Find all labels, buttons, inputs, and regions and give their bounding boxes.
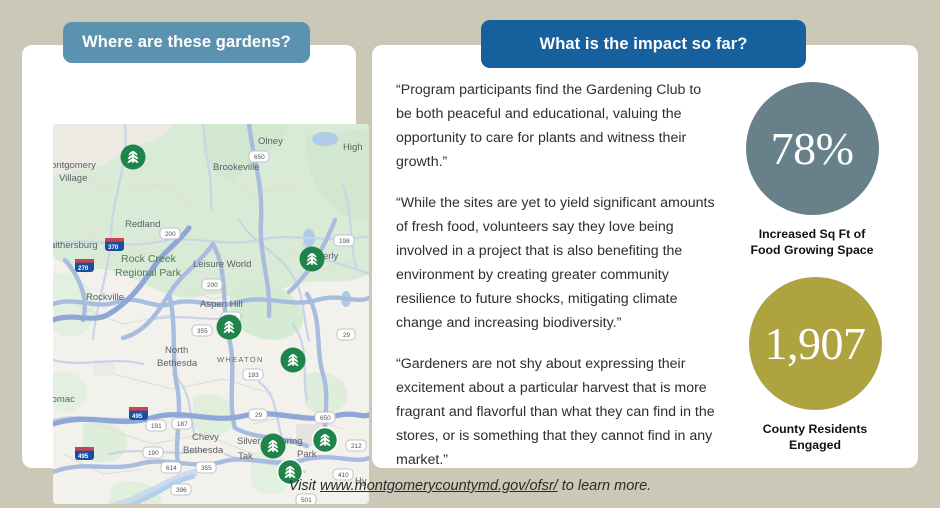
stat-label-line1: Increased Sq Ft of (722, 226, 902, 242)
stat-circle: 78% (746, 82, 879, 215)
svg-text:191: 191 (151, 423, 162, 430)
gardens-location-card: ontgomery Village aithersburg Redland Br… (22, 45, 356, 468)
stat-value: 78% (771, 126, 854, 172)
svg-text:erly: erly (323, 251, 339, 262)
infographic-canvas: ontgomery Village aithersburg Redland Br… (0, 0, 940, 508)
footer-suffix: to learn more. (558, 478, 652, 494)
gardens-map[interactable]: ontgomery Village aithersburg Redland Br… (53, 124, 369, 504)
svg-text:212: 212 (351, 443, 362, 450)
svg-text:Leisure World: Leisure World (193, 259, 251, 270)
stat-circle: 1,907 (749, 277, 882, 410)
svg-text:495: 495 (78, 453, 89, 460)
svg-text:200: 200 (207, 282, 218, 289)
map-marker (217, 315, 242, 340)
svg-text:tomac: tomac (53, 394, 75, 405)
svg-text:501: 501 (301, 497, 312, 504)
stat-label: Increased Sq Ft of Food Growing Space (722, 226, 902, 258)
stat-residents-engaged: 1,907 County Residents Engaged (725, 277, 905, 453)
footer-prefix: Visit (289, 478, 320, 494)
stat-label-line2: Engaged (725, 437, 905, 453)
svg-text:Rockville: Rockville (86, 292, 124, 303)
svg-text:Silver: Silver (237, 436, 261, 447)
map-marker (121, 145, 146, 170)
svg-text:193: 193 (248, 372, 259, 379)
stat-label: County Residents Engaged (725, 421, 905, 453)
quote-3: “Gardeners are not shy about expressing … (396, 352, 716, 472)
svg-text:Olney: Olney (258, 136, 283, 147)
svg-text:ontgomery: ontgomery (53, 160, 96, 171)
svg-text:Redland: Redland (125, 219, 160, 230)
svg-text:187: 187 (177, 421, 188, 428)
gardens-location-title: Where are these gardens? (63, 22, 310, 63)
svg-text:650: 650 (254, 154, 265, 161)
svg-text:198: 198 (339, 238, 350, 245)
impact-title: What is the impact so far? (481, 20, 806, 68)
map-marker (300, 247, 325, 272)
svg-text:370: 370 (108, 244, 119, 251)
svg-text:614: 614 (166, 465, 177, 472)
svg-text:355: 355 (201, 465, 212, 472)
map-marker-group (121, 145, 338, 485)
stat-value: 1,907 (765, 321, 866, 367)
svg-text:aithersburg: aithersburg (53, 240, 98, 251)
svg-text:495: 495 (132, 413, 143, 420)
stat-label-line2: Food Growing Space (722, 242, 902, 258)
svg-text:355: 355 (197, 328, 208, 335)
svg-text:29: 29 (343, 332, 351, 339)
svg-text:190: 190 (148, 450, 159, 457)
stat-increased-sqft: 78% Increased Sq Ft of Food Growing Spac… (722, 82, 902, 258)
quote-2: “While the sites are yet to yield signif… (396, 191, 716, 335)
svg-text:Brookeville: Brookeville (213, 162, 259, 173)
svg-text:High: High (343, 142, 363, 153)
map-marker (281, 348, 306, 373)
svg-text:650: 650 (320, 415, 331, 422)
svg-text:Regional Park: Regional Park (115, 267, 182, 279)
svg-text:29: 29 (255, 412, 263, 419)
svg-text:Bethesda: Bethesda (183, 445, 224, 456)
svg-text:Rock Creek: Rock Creek (121, 253, 177, 265)
svg-text:Park: Park (297, 449, 317, 460)
svg-text:Tak: Tak (238, 451, 253, 462)
stat-label-line1: County Residents (725, 421, 905, 437)
quote-1: “Program participants find the Gardening… (396, 78, 716, 174)
map-labels: ontgomery Village aithersburg Redland Br… (53, 124, 369, 504)
svg-text:Aspen Hill: Aspen Hill (200, 299, 243, 310)
svg-text:WHEATON: WHEATON (217, 355, 264, 364)
svg-text:North: North (165, 345, 188, 356)
map-marker (261, 434, 286, 459)
svg-text:200: 200 (165, 231, 176, 238)
map-marker (313, 428, 338, 453)
quotes-list: “Program participants find the Gardening… (396, 78, 716, 489)
footer-note: Visit www.montgomerycountymd.gov/ofsr/ t… (0, 478, 940, 494)
footer-website-link[interactable]: www.montgomerycountymd.gov/ofsr/ (320, 478, 558, 494)
svg-text:Village: Village (59, 173, 87, 184)
svg-text:Bethesda: Bethesda (157, 358, 198, 369)
svg-text:270: 270 (78, 265, 89, 272)
svg-text:Chevy: Chevy (192, 432, 219, 443)
